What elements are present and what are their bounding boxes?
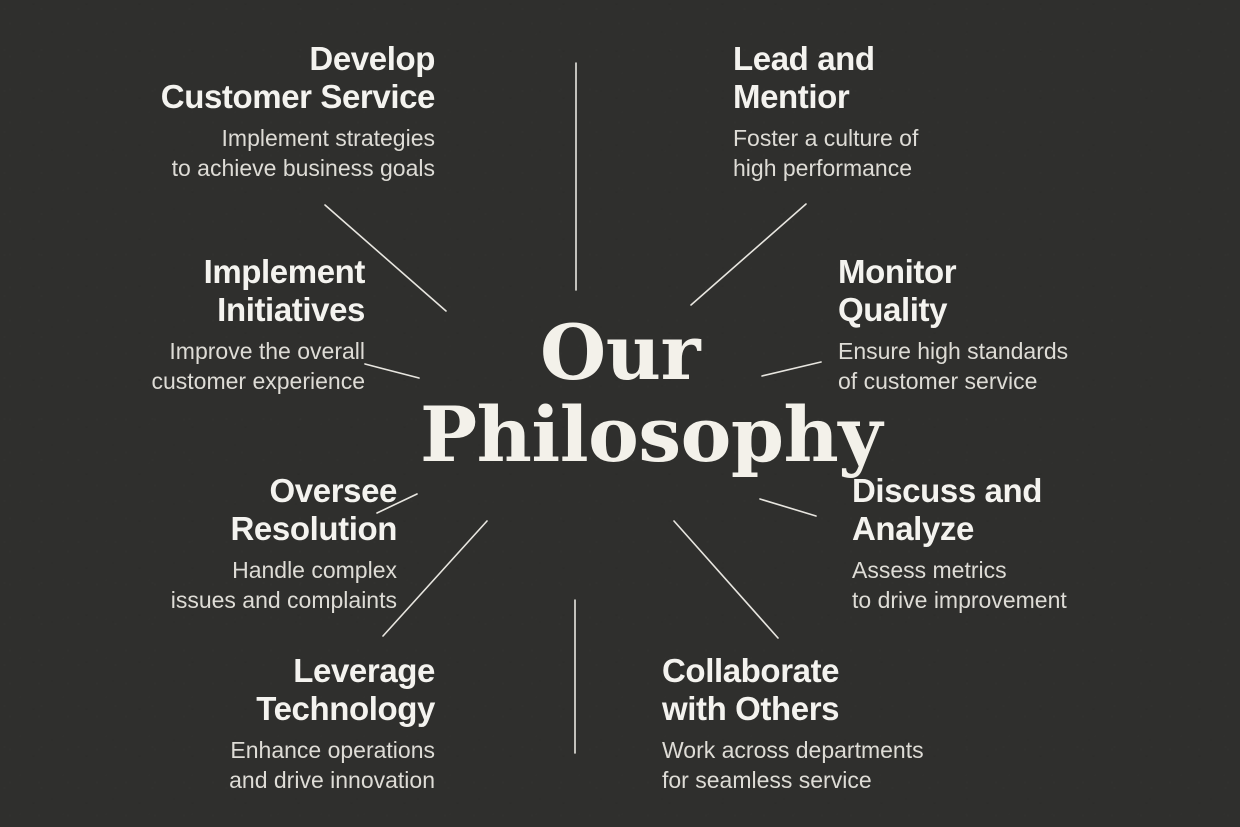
center-title: Our Philosophy [420, 312, 820, 476]
node-discuss-and-analyze[interactable]: Discuss and Analyze Assess metrics to dr… [852, 472, 1212, 615]
connector-line-implement [365, 364, 419, 378]
node-title: Implement Initiatives [5, 253, 365, 330]
node-title: Collaborate with Others [662, 652, 1022, 729]
connector-line-discuss [760, 499, 816, 516]
node-title: Monitor Quality [838, 253, 1198, 330]
node-implement-initiatives[interactable]: Implement Initiatives Improve the overal… [5, 253, 365, 396]
node-description: Enhance operations and drive innovation [75, 735, 435, 796]
node-description: Foster a culture of high performance [733, 123, 1093, 184]
connector-line-collaborate [674, 521, 778, 638]
node-description: Handle complex issues and complaints [37, 555, 397, 616]
node-leverage-technology[interactable]: Leverage Technology Enhance operations a… [75, 652, 435, 795]
node-title: Lead and Mentior [733, 40, 1093, 117]
node-title: Leverage Technology [75, 652, 435, 729]
node-title: Discuss and Analyze [852, 472, 1212, 549]
node-description: Improve the overall customer experience [5, 336, 365, 397]
node-lead-and-mentior[interactable]: Lead and Mentior Foster a culture of hig… [733, 40, 1093, 183]
node-description: Work across departments for seamless ser… [662, 735, 1022, 796]
node-title: Develop Customer Service [75, 40, 435, 117]
node-monitor-quality[interactable]: Monitor Quality Ensure high standards of… [838, 253, 1198, 396]
node-description: Implement strategies to achieve business… [75, 123, 435, 184]
node-description: Ensure high standards of customer servic… [838, 336, 1198, 397]
node-title: Oversee Resolution [37, 472, 397, 549]
node-description: Assess metrics to drive improvement [852, 555, 1212, 616]
node-collaborate-with-others[interactable]: Collaborate with Others Work across depa… [662, 652, 1022, 795]
node-oversee-resolution[interactable]: Oversee Resolution Handle complex issues… [37, 472, 397, 615]
connector-line-leverage [383, 521, 487, 636]
philosophy-diagram: Our Philosophy Develop Customer Service … [0, 0, 1240, 827]
connector-line-lead [691, 204, 806, 305]
node-develop-customer-service[interactable]: Develop Customer Service Implement strat… [75, 40, 435, 183]
